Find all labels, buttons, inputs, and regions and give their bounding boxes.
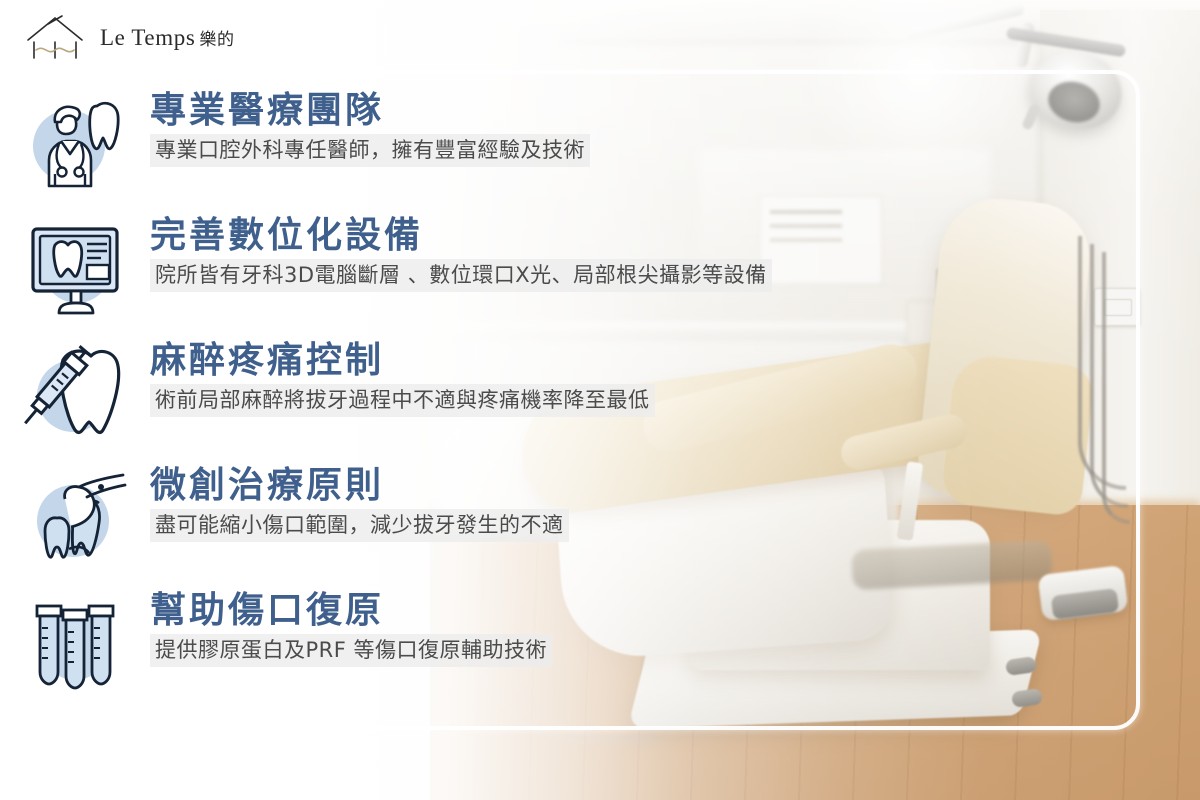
forceps-tooth-extraction-icon xyxy=(19,463,131,575)
feature-title: 麻醉疼痛控制 xyxy=(150,340,655,382)
feature-row: 專業醫療團隊 專業口腔外科專任醫師，擁有豐富經驗及技術 xyxy=(0,86,1060,211)
feature-row: 完善數位化設備 院所皆有牙科3D電腦斷層 、數位環口X光、局部根尖攝影等設備 xyxy=(0,211,1060,336)
feature-row: 微創治療原則 盡可能縮小傷口範圍，減少拔牙發生的不適 xyxy=(0,461,1060,586)
monitor-dental-xray-icon xyxy=(19,213,131,325)
feature-subtitle: 專業口腔外科專任醫師，擁有豐富經驗及技術 xyxy=(150,134,590,166)
feature-text: 微創治療原則 盡可能縮小傷口範圍，減少拔牙發生的不適 xyxy=(150,461,569,542)
house-outline-logo-icon xyxy=(24,14,86,62)
promo-graphic: Le Temps樂的 xyxy=(0,0,1200,800)
doctor-with-tooth-icon xyxy=(19,88,131,200)
feature-text: 專業醫療團隊 專業口腔外科專任醫師，擁有豐富經驗及技術 xyxy=(150,86,590,167)
feature-subtitle: 盡可能縮小傷口範圍，減少拔牙發生的不適 xyxy=(150,509,569,541)
feature-icon-wrap xyxy=(0,336,150,452)
feature-icon-wrap xyxy=(0,86,150,202)
syringe-tooth-anesthesia-icon xyxy=(19,338,131,450)
feature-icon-wrap xyxy=(0,461,150,577)
feature-text: 麻醉疼痛控制 術前局部麻醉將拔牙過程中不適與疼痛機率降至最低 xyxy=(150,336,655,417)
feature-title: 微創治療原則 xyxy=(150,465,569,507)
brand-logo[interactable]: Le Temps樂的 xyxy=(24,14,235,62)
feature-title: 完善數位化設備 xyxy=(150,215,772,257)
feature-subtitle: 提供膠原蛋白及PRF 等傷口復原輔助技術 xyxy=(150,634,552,666)
feature-text: 完善數位化設備 院所皆有牙科3D電腦斷層 、數位環口X光、局部根尖攝影等設備 xyxy=(150,211,772,292)
feature-icon-wrap xyxy=(0,211,150,327)
brand-name-cn: 樂的 xyxy=(199,30,234,49)
feature-subtitle: 院所皆有牙科3D電腦斷層 、數位環口X光、局部根尖攝影等設備 xyxy=(150,259,772,291)
feature-icon-wrap xyxy=(0,586,150,702)
feature-subtitle: 術前局部麻醉將拔牙過程中不適與疼痛機率降至最低 xyxy=(150,384,655,416)
feature-row: 麻醉疼痛控制 術前局部麻醉將拔牙過程中不適與疼痛機率降至最低 xyxy=(0,336,1060,461)
feature-title: 專業醫療團隊 xyxy=(150,90,590,132)
brand-name-latin: Le Temps xyxy=(100,25,195,50)
brand-logo-text: Le Temps樂的 xyxy=(100,25,235,51)
feature-title: 幫助傷口復原 xyxy=(150,590,552,632)
feature-text: 幫助傷口復原 提供膠原蛋白及PRF 等傷口復原輔助技術 xyxy=(150,586,552,667)
feature-row: 幫助傷口復原 提供膠原蛋白及PRF 等傷口復原輔助技術 xyxy=(0,586,1060,711)
feature-list: 專業醫療團隊 專業口腔外科專任醫師，擁有豐富經驗及技術 xyxy=(0,86,1060,711)
test-tubes-icon xyxy=(19,588,131,700)
